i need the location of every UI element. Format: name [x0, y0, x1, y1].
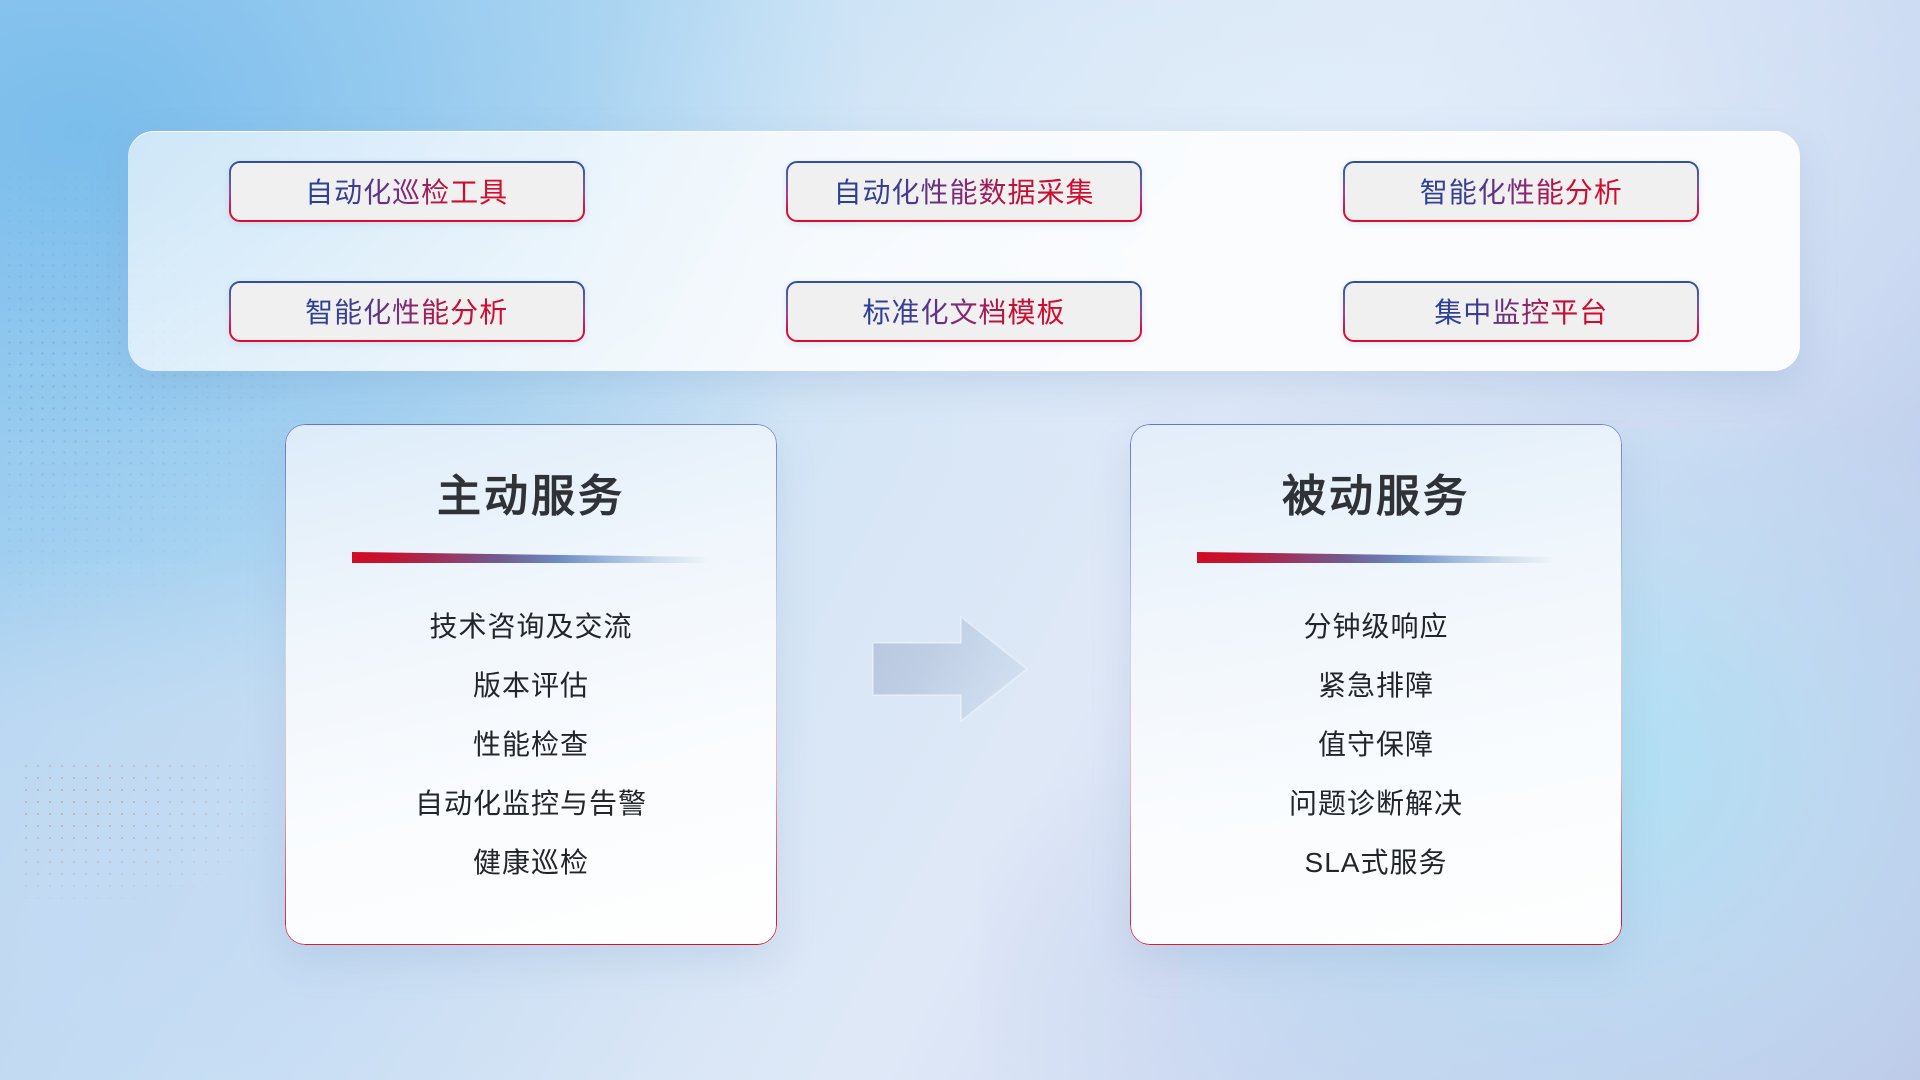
- capability-chip-6[interactable]: 集中监控平台: [1343, 281, 1699, 342]
- capability-chip-1-body: 自动化巡检工具: [231, 163, 583, 220]
- capability-chip-3-label: 智能化性能分析: [1420, 171, 1623, 211]
- capability-chip-4-label: 智能化性能分析: [305, 291, 508, 331]
- right-arrow-icon: [865, 613, 1035, 725]
- list-item: 技术咨询及交流: [285, 597, 777, 656]
- capability-chip-3-body: 智能化性能分析: [1345, 163, 1697, 220]
- list-item: 分钟级响应: [1130, 597, 1622, 656]
- list-item: 性能检查: [285, 715, 777, 774]
- capability-chip-5-label: 标准化文档模板: [862, 291, 1065, 331]
- capability-chip-2-label: 自动化性能数据采集: [833, 171, 1094, 211]
- list-item: 紧急排障: [1130, 656, 1622, 715]
- service-card-passive-title: 被动服务: [1130, 460, 1622, 524]
- capability-chip-6-label: 集中监控平台: [1434, 291, 1608, 331]
- capability-chip-5-body: 标准化文档模板: [788, 283, 1140, 340]
- capability-chip-1[interactable]: 自动化巡检工具: [229, 161, 585, 222]
- list-item: 自动化监控与告警: [285, 774, 777, 833]
- capability-chip-2[interactable]: 自动化性能数据采集: [786, 161, 1142, 222]
- capability-chip-4-body: 智能化性能分析: [231, 283, 583, 340]
- capability-chip-6-body: 集中监控平台: [1345, 283, 1697, 340]
- capability-chip-3[interactable]: 智能化性能分析: [1343, 161, 1699, 222]
- capability-panel: 自动化巡检工具 自动化性能数据采集 智能化性能分析 智能化性能分析 标准化文档模…: [128, 131, 1800, 371]
- service-card-active-divider: [352, 552, 710, 563]
- capability-chip-2-body: 自动化性能数据采集: [788, 163, 1140, 220]
- capability-chip-4[interactable]: 智能化性能分析: [229, 281, 585, 342]
- list-item: 值守保障: [1130, 715, 1622, 774]
- list-item: 问题诊断解决: [1130, 774, 1622, 833]
- list-item: 版本评估: [285, 656, 777, 715]
- service-card-passive-divider: [1197, 552, 1555, 563]
- service-card-passive[interactable]: 被动服务 分钟级响应 紧急排障 值守保障 问题诊断解决 SLA式服务: [1130, 424, 1622, 945]
- list-item: 健康巡检: [285, 833, 777, 892]
- capability-chip-1-label: 自动化巡检工具: [305, 171, 508, 211]
- capability-chip-5[interactable]: 标准化文档模板: [786, 281, 1142, 342]
- list-item: SLA式服务: [1130, 833, 1622, 892]
- slide-canvas: 自动化巡检工具 自动化性能数据采集 智能化性能分析 智能化性能分析 标准化文档模…: [0, 0, 1920, 1080]
- service-card-active-title: 主动服务: [285, 460, 777, 524]
- service-card-passive-list: 分钟级响应 紧急排障 值守保障 问题诊断解决 SLA式服务: [1130, 597, 1622, 892]
- service-card-active[interactable]: 主动服务 技术咨询及交流 版本评估 性能检查 自动化监控与告警 健康巡检: [285, 424, 777, 945]
- service-card-active-list: 技术咨询及交流 版本评估 性能检查 自动化监控与告警 健康巡检: [285, 597, 777, 892]
